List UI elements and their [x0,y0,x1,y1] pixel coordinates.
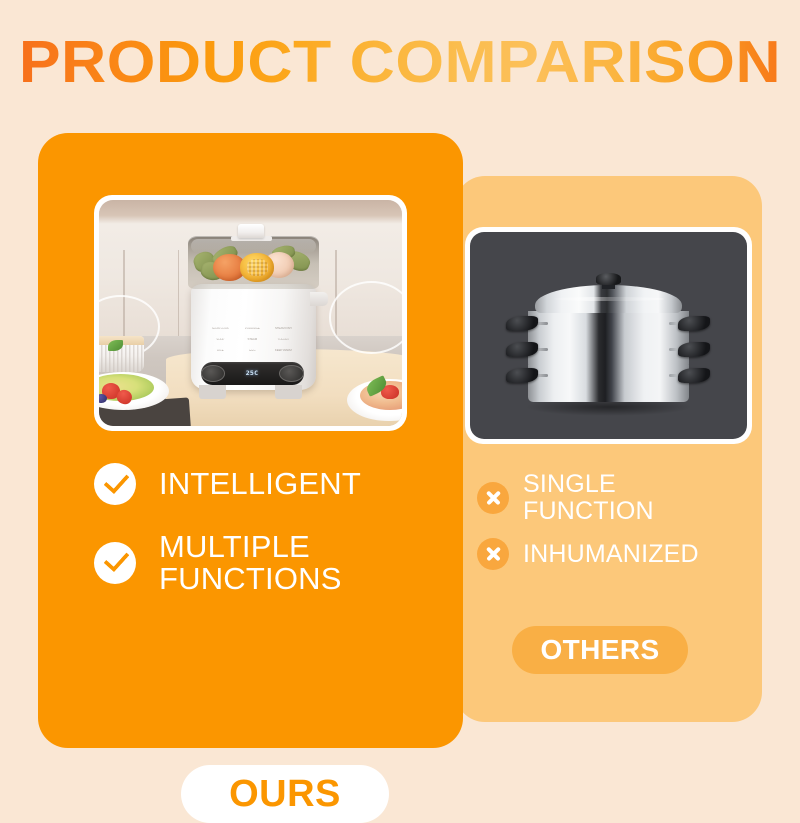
steamer-display-panel: 25C [201,362,304,386]
cabinet-seam [178,250,180,336]
steamer-handle-right-bottom [678,368,710,384]
others-product-photo-frame [465,227,752,444]
ours-feature-list: INTELLIGENT MULTIPLEFUNCTIONS [94,463,439,594]
steamer-foot-left [199,385,226,399]
steamer-tier-bottom [528,362,689,401]
display-button-right [279,365,304,382]
comparison-infographic: PRODUCT COMPARISON [0,0,800,800]
steamer-foot-right [275,385,302,399]
chair-arc-right [329,281,402,353]
food-corn [240,253,274,282]
steamer-tier-top [528,311,689,338]
ours-feature-item: INTELLIGENT [94,463,439,505]
others-feature-label: INHUMANIZED [523,541,699,568]
check-circle-icon [94,463,136,505]
panel-label: STEAM FISH [264,328,302,331]
lid-knob [238,224,264,239]
others-feature-item: SINGLEFUNCTION [477,471,757,524]
steamer-side-vent [310,292,328,307]
ours-badge: OURS [181,765,389,823]
x-circle-icon [477,482,509,514]
others-card: SINGLEFUNCTION INHUMANIZED OTHERS [455,176,762,722]
others-badge-label: OTHERS [540,634,659,666]
steamer-handle-right-mid [678,342,710,358]
others-feature-list: SINGLEFUNCTION INHUMANIZED [477,471,757,570]
display-button-left [201,365,226,382]
control-panel-labels: SLOW COOK PORRIDGE STEAM FISH SOUP STEAM… [205,324,299,356]
others-feature-item: INHUMANIZED [477,538,757,570]
ours-feature-label: MULTIPLEFUNCTIONS [159,531,342,594]
steamer-handle-right-top [678,316,710,332]
ours-badge-label: OURS [229,773,341,816]
page-title: PRODUCT COMPARISON [0,33,800,92]
ours-product-photo: SLOW COOK PORRIDGE STEAM FISH SOUP STEAM… [99,200,402,426]
steamer-lid-knob [596,273,621,284]
ours-product-photo-frame: SLOW COOK PORRIDGE STEAM FISH SOUP STEAM… [94,195,407,431]
panel-label: YOGURT [264,339,302,342]
display-temperature: 25C [225,369,279,377]
ours-card: SLOW COOK PORRIDGE STEAM FISH SOUP STEAM… [38,133,463,748]
ours-feature-item: MULTIPLEFUNCTIONS [94,531,439,594]
others-badge: OTHERS [512,626,688,674]
steamer-tier-middle [528,336,689,365]
x-circle-icon [477,538,509,570]
steamer-glass-lid [188,236,318,289]
others-product-photo [470,232,747,439]
ours-feature-label: INTELLIGENT [159,468,361,500]
check-circle-icon [94,542,136,584]
others-feature-label: SINGLEFUNCTION [523,471,654,524]
panel-label: KEEP WARM [264,349,302,352]
